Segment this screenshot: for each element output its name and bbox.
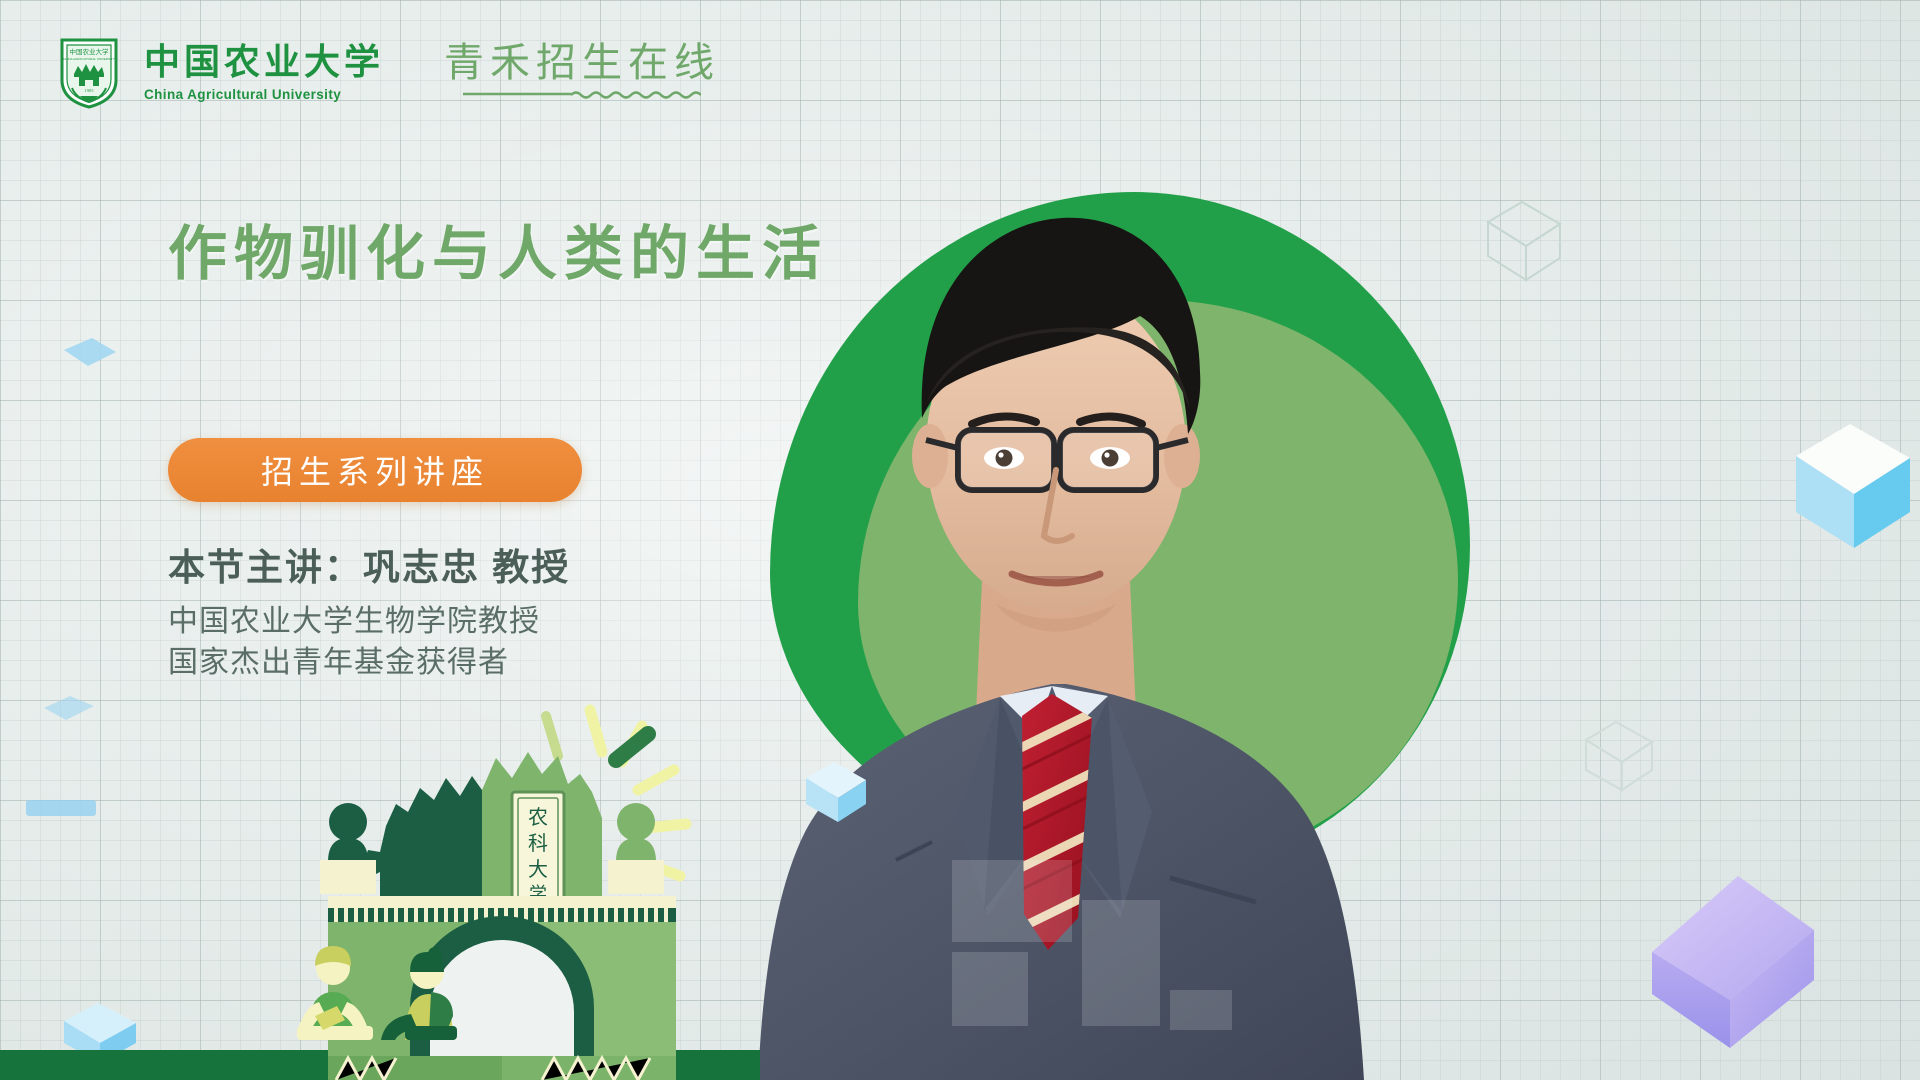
watermark-block bbox=[952, 952, 1028, 1026]
svg-text:CHINA AGRICULTURAL UNIVERSITY: CHINA AGRICULTURAL UNIVERSITY bbox=[63, 57, 115, 61]
brand-header: 中国农业大学 CHINA AGRICULTURAL UNIVERSITY 190… bbox=[58, 36, 720, 110]
credential-line-1: 中国农业大学生物学院教授 bbox=[168, 602, 540, 643]
flat-tile-icon bbox=[54, 330, 124, 390]
speaker-line: 本节主讲：巩志忠 教授 bbox=[168, 537, 570, 591]
flat-tile-icon bbox=[22, 790, 102, 826]
status-badge: 招生系列讲座 bbox=[168, 438, 582, 502]
university-crest-shield-icon: 中国农业大学 CHINA AGRICULTURAL UNIVERSITY 190… bbox=[58, 36, 120, 110]
svg-text:1905: 1905 bbox=[85, 88, 95, 93]
flat-tile-icon bbox=[40, 690, 100, 730]
university-name-cn: 中国农业大学 bbox=[144, 44, 384, 82]
watermark-block bbox=[952, 860, 1072, 942]
svg-text:大: 大 bbox=[528, 857, 548, 881]
two-seated-students-icon bbox=[255, 942, 515, 1052]
page-title: 作物驯化与人类的生活 bbox=[168, 222, 828, 287]
svg-text:农: 农 bbox=[528, 805, 548, 829]
isometric-prism-icon bbox=[1638, 868, 1852, 1080]
svg-text:中国农业大学: 中国农业大学 bbox=[70, 47, 110, 56]
isometric-cube-icon bbox=[800, 752, 872, 828]
university-name-en: China Agricultural University bbox=[144, 87, 384, 102]
watermark-block bbox=[1082, 900, 1160, 1026]
isometric-cube-icon bbox=[1778, 398, 1920, 558]
isometric-cube-icon bbox=[1580, 712, 1660, 796]
brand-name-cn: 青禾招生在线 bbox=[444, 43, 720, 83]
brand-wordmark: 青禾招生在线 bbox=[444, 43, 720, 103]
svg-text:科: 科 bbox=[528, 831, 548, 855]
status-badge-label: 招生系列讲座 bbox=[261, 447, 489, 493]
speaker-credentials: 中国农业大学生物学院教授 国家杰出青年基金获得者 bbox=[168, 602, 540, 683]
credential-line-2: 国家杰出青年基金获得者 bbox=[168, 643, 540, 684]
wavy-underline-icon bbox=[463, 91, 701, 103]
slide-canvas: 农 科 大 学 bbox=[0, 0, 1920, 1080]
watermark-block bbox=[1170, 990, 1232, 1030]
isometric-cube-icon bbox=[1480, 188, 1570, 288]
